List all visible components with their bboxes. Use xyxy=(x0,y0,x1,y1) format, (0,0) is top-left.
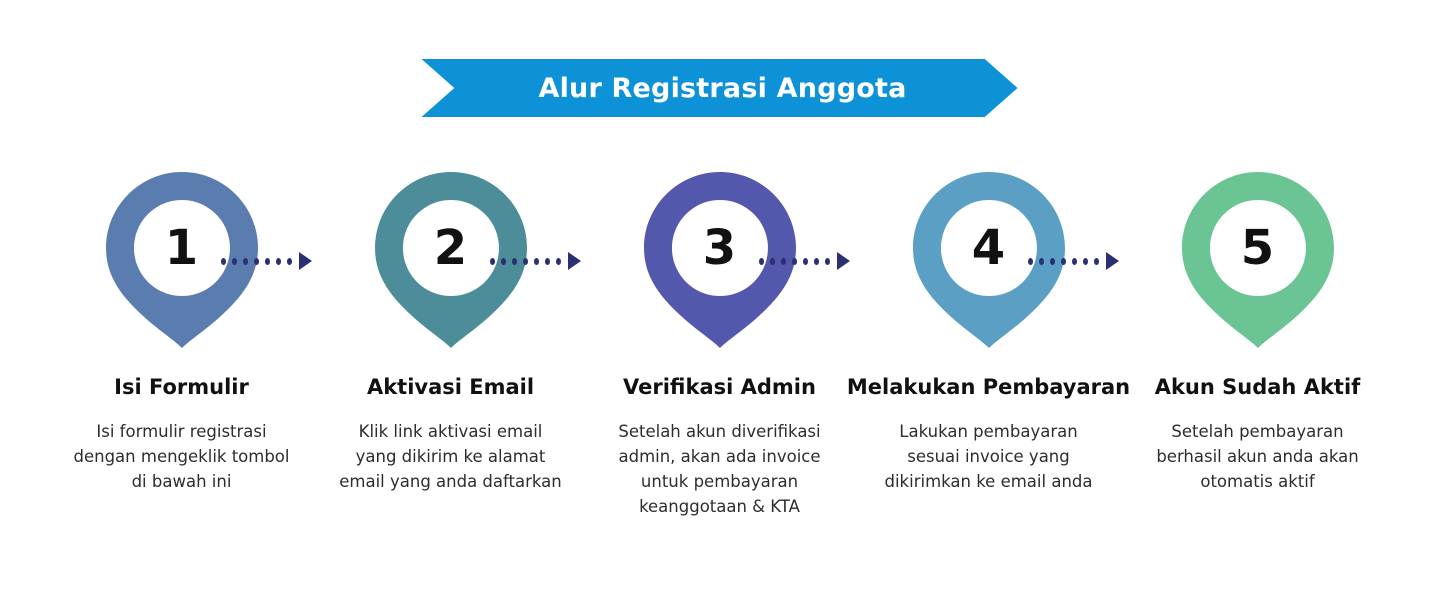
step-description: Isi formulir registrasidengan mengeklik … xyxy=(52,419,312,494)
arrow-head-icon xyxy=(568,252,581,270)
step-title: Isi Formulir xyxy=(114,374,249,400)
connector-dot xyxy=(501,258,506,265)
connector-dot xyxy=(287,258,292,265)
connector-dot xyxy=(825,258,830,265)
step-item: 3 Verifikasi Admin Setelah akun diverifi… xyxy=(585,172,854,520)
arrow-head-icon xyxy=(1106,252,1119,270)
connector-dot xyxy=(512,258,517,265)
step-description-line: di bawah ini xyxy=(52,469,312,494)
connector-arrow xyxy=(221,250,313,272)
pin-marker-holder: 5 xyxy=(1169,172,1347,350)
step-title: Melakukan Pembayaran xyxy=(847,374,1130,400)
page-title: Alur Registrasi Anggota xyxy=(532,73,906,104)
step-item: 1 Isi Formulir Isi formulir registraside… xyxy=(47,172,316,494)
connector-dot xyxy=(221,258,226,265)
title-banner: Alur Registrasi Anggota xyxy=(422,59,1018,117)
step-title: Aktivasi Email xyxy=(367,374,534,400)
pin-marker-holder: 4 xyxy=(900,172,1078,350)
connector-dot xyxy=(556,258,561,265)
step-description-line: Isi formulir registrasi xyxy=(52,419,312,444)
connector-dot xyxy=(1039,258,1044,265)
step-item: 5 Akun Sudah Aktif Setelah pembayaranber… xyxy=(1123,172,1392,494)
step-number: 3 xyxy=(644,172,796,324)
step-description-line: keanggotaan & KTA xyxy=(590,494,850,519)
step-description: Lakukan pembayaransesuai invoice yangdik… xyxy=(859,419,1119,494)
step-title: Akun Sudah Aktif xyxy=(1155,374,1361,400)
banner-container: Alur Registrasi Anggota xyxy=(0,56,1439,120)
step-number: 4 xyxy=(913,172,1065,324)
step-description-line: yang dikirim ke alamat xyxy=(321,444,581,469)
pin-marker-holder: 1 xyxy=(93,172,271,350)
step-description-line: sesuai invoice yang xyxy=(859,444,1119,469)
pin-marker-holder: 2 xyxy=(362,172,540,350)
connector-dot xyxy=(1061,258,1066,265)
step-title: Verifikasi Admin xyxy=(623,374,816,400)
connector-dot xyxy=(803,258,808,265)
connector-dot xyxy=(490,258,495,265)
step-description-line: email yang anda daftarkan xyxy=(321,469,581,494)
arrow-head-icon xyxy=(837,252,850,270)
step-number: 1 xyxy=(106,172,258,324)
step-description-line: Lakukan pembayaran xyxy=(859,419,1119,444)
connector-dot xyxy=(781,258,786,265)
arrow-head-icon xyxy=(299,252,312,270)
connector-dot xyxy=(254,258,259,265)
steps-row: 1 Isi Formulir Isi formulir registraside… xyxy=(0,172,1439,520)
connector-dot xyxy=(1094,258,1099,265)
connector-arrow xyxy=(1028,250,1120,272)
connector-dot xyxy=(545,258,550,265)
pin-marker-holder: 3 xyxy=(631,172,809,350)
step-description-line: admin, akan ada invoice xyxy=(590,444,850,469)
step-description: Klik link aktivasi emailyang dikirim ke … xyxy=(321,419,581,494)
connector-dot xyxy=(814,258,819,265)
step-description-line: dengan mengeklik tombol xyxy=(52,444,312,469)
map-pin-icon[interactable]: 5 xyxy=(1182,172,1334,348)
connector-dot xyxy=(232,258,237,265)
step-description-line: dikirimkan ke email anda xyxy=(859,469,1119,494)
step-number: 5 xyxy=(1182,172,1334,324)
step-description-line: otomatis aktif xyxy=(1128,469,1388,494)
connector-dot xyxy=(265,258,270,265)
connector-dot xyxy=(1072,258,1077,265)
step-description-line: berhasil akun anda akan xyxy=(1128,444,1388,469)
connector-dot xyxy=(759,258,764,265)
connector-dot xyxy=(1028,258,1033,265)
connector-dot xyxy=(534,258,539,265)
step-description-line: Setelah akun diverifikasi xyxy=(590,419,850,444)
connector-arrow xyxy=(490,250,582,272)
connector-dot xyxy=(770,258,775,265)
connector-dot xyxy=(1050,258,1055,265)
connector-dot xyxy=(792,258,797,265)
connector-arrow xyxy=(759,250,851,272)
step-description-line: Setelah pembayaran xyxy=(1128,419,1388,444)
step-description: Setelah akun diverifikasiadmin, akan ada… xyxy=(590,419,850,519)
connector-dot xyxy=(276,258,281,265)
step-item: 4 Melakukan Pembayaran Lakukan pembayara… xyxy=(854,172,1123,494)
connector-dot xyxy=(243,258,248,265)
step-item: 2 Aktivasi Email Klik link aktivasi emai… xyxy=(316,172,585,494)
connector-dot xyxy=(1083,258,1088,265)
step-number: 2 xyxy=(375,172,527,324)
step-description-line: untuk pembayaran xyxy=(590,469,850,494)
connector-dot xyxy=(523,258,528,265)
step-description-line: Klik link aktivasi email xyxy=(321,419,581,444)
step-description: Setelah pembayaranberhasil akun anda aka… xyxy=(1128,419,1388,494)
